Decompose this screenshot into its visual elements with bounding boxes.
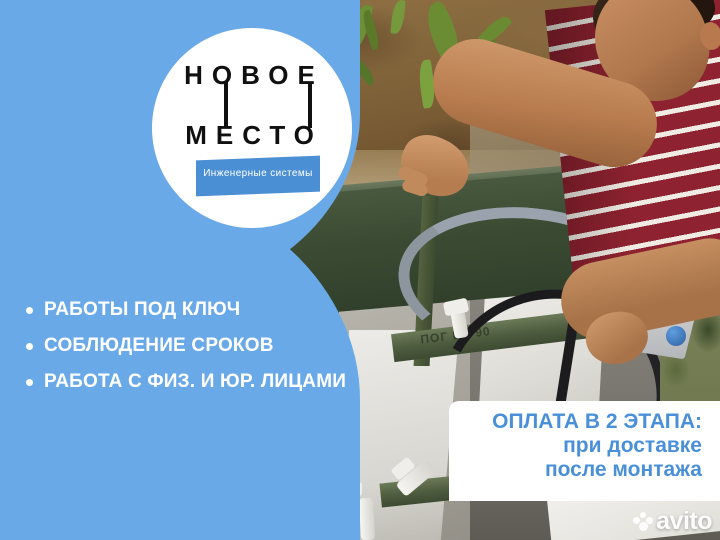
logo-tagline-text: Инженерные системы — [196, 168, 320, 179]
payment-step-2: после монтажа — [449, 458, 720, 482]
feature-label: СОБЛЮДЕНИЕ СРОКОВ — [44, 336, 274, 357]
avito-watermark-label: avito — [656, 507, 712, 536]
logo-tagline-badge: Инженерные системы — [196, 156, 320, 197]
power-socket — [666, 326, 686, 346]
feature-list: РАБОТЫ ПОД КЛЮЧ СОБЛЮДЕНИЕ СРОКОВ РАБОТА… — [26, 300, 376, 408]
bullet-dot-icon — [26, 379, 33, 386]
advertisement-image: ПОГ ВЛ 90 ПОГ — [0, 0, 720, 540]
bullet-dot-icon — [26, 307, 33, 314]
white-pipe — [359, 498, 375, 540]
logo-line-1: НОВОЕ — [168, 62, 340, 88]
logo-wordmark: НОВОЕ МЕСТО — [168, 60, 340, 170]
list-item: РАБОТЫ ПОД КЛЮЧ — [26, 300, 376, 321]
avito-watermark: avito — [633, 507, 712, 536]
list-item: РАБОТА С ФИЗ. И ЮР. ЛИЦАМИ — [26, 372, 376, 393]
feature-label: РАБОТЫ ПОД КЛЮЧ — [44, 300, 240, 321]
feature-label: РАБОТА С ФИЗ. И ЮР. ЛИЦАМИ — [44, 372, 346, 393]
logo-stem-left — [224, 82, 228, 128]
logo-line-2: МЕСТО — [168, 122, 340, 148]
payment-step-1: при доставке — [449, 434, 720, 458]
payment-terms-panel: ОПЛАТА В 2 ЭТАПА: при доставке после мон… — [449, 401, 720, 501]
payment-title: ОПЛАТА В 2 ЭТАПА: — [449, 401, 720, 434]
logo-stem-right — [308, 82, 312, 128]
list-item: СОБЛЮДЕНИЕ СРОКОВ — [26, 336, 376, 357]
avito-logo-icon — [633, 512, 653, 532]
bullet-dot-icon — [26, 343, 33, 350]
